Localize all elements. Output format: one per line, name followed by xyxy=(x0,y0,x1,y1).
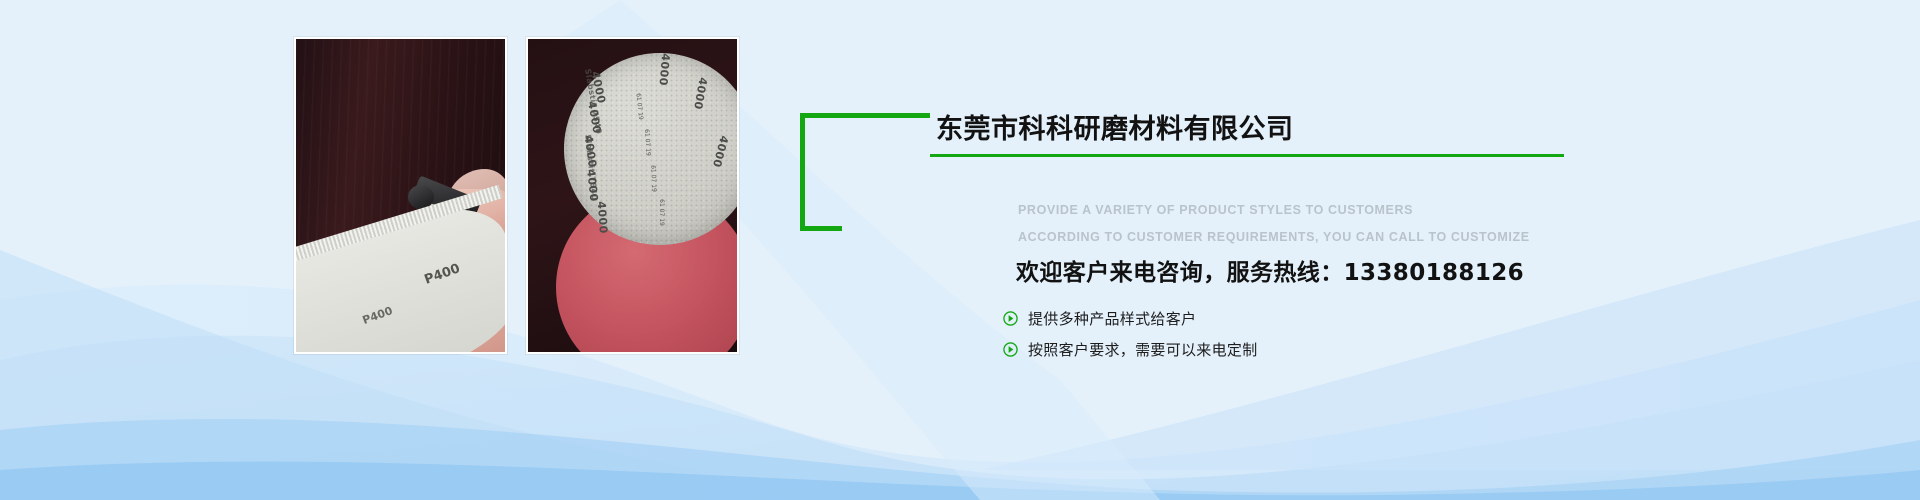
product-photo-gallery: P400 P400 4000 4000 4000 4000 4000 4000 … xyxy=(294,37,739,354)
title-underline xyxy=(930,154,1564,157)
subtitle-line-1: PROVIDE A VARIETY OF PRODUCT STYLES TO C… xyxy=(1018,203,1413,217)
disc-tiny-marks: 61 07 19 xyxy=(649,165,657,192)
page-title: 东莞市科科研磨材料有限公司 xyxy=(930,113,1570,147)
disc-tiny-marks: 61 07 19 xyxy=(658,199,665,226)
promo-banner: P400 P400 4000 4000 4000 4000 4000 4000 … xyxy=(0,0,1920,500)
list-item-label: 提供多种产品样式给客户 xyxy=(1028,308,1196,329)
subtitle-line-2: ACCORDING TO CUSTOMER REQUIREMENTS, YOU … xyxy=(1018,230,1530,244)
bracket-top-bar xyxy=(800,113,930,118)
abrasive-disc-photo[interactable]: 4000 4000 4000 4000 4000 4000 4000 4000 … xyxy=(526,37,739,354)
bracket-left-bar xyxy=(800,113,805,231)
bracket-bottom-bar xyxy=(800,226,842,231)
arrow-circle-icon xyxy=(1003,311,1018,326)
feature-bullet-list: 提供多种产品样式给客户 按照客户要求，需要可以来电定制 xyxy=(1003,303,1258,365)
hotline-text: 欢迎客户来电咨询，服务热线：13380188126 xyxy=(1016,253,1524,287)
list-item: 提供多种产品样式给客户 xyxy=(1003,303,1258,334)
company-title-block: 东莞市科科研磨材料有限公司 xyxy=(930,113,1570,157)
list-item: 按照客户要求，需要可以来电定制 xyxy=(1003,334,1258,365)
list-item-label: 按照客户要求，需要可以来电定制 xyxy=(1028,339,1258,360)
hand-holding-sandpaper-photo[interactable]: P400 P400 xyxy=(294,37,507,354)
green-bracket-decoration xyxy=(800,113,930,231)
background-wave-decoration xyxy=(0,0,1920,500)
disc-grit-label: 4000 xyxy=(595,201,610,234)
arrow-circle-icon xyxy=(1003,342,1018,357)
